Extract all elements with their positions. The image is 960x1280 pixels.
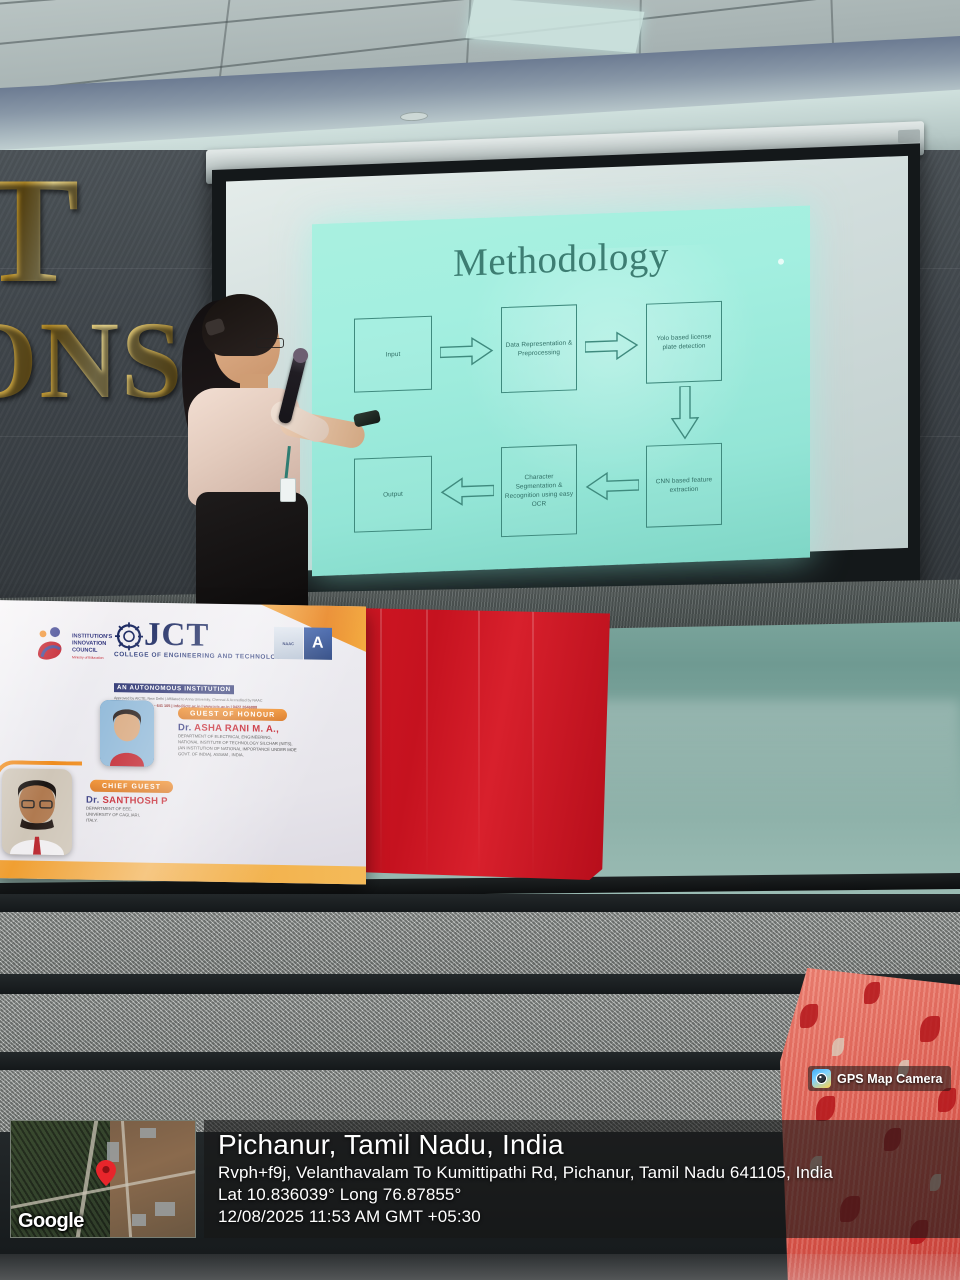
- presenter-skirt: [196, 492, 308, 610]
- presenter: [176, 296, 372, 608]
- college-emblem-icon: [114, 621, 144, 652]
- gps-map-camera-watermark: GPS Map Camera: [808, 1066, 951, 1091]
- svg-text:INNOVATION: INNOVATION: [72, 640, 106, 647]
- camera-icon: [812, 1069, 831, 1088]
- flow-arrow-input-to-prep: [440, 335, 494, 367]
- gps-text-panel: Pichanur, Tamil Nadu, India Rvph+f9j, Ve…: [204, 1120, 960, 1238]
- guest-of-honour-pill: GUEST OF HONOUR: [178, 707, 287, 721]
- google-attribution: Google: [18, 1210, 84, 1233]
- event-banner: INSTITUTION'S INNOVATION COUNCIL Ministr…: [0, 600, 366, 884]
- chief-guest-details: Dr. SANTHOSH P DEPARTMENT OF EEE, UNIVER…: [86, 798, 256, 827]
- step-riser-1: [0, 894, 960, 912]
- flow-box-preprocessing: Data Representation & Preprocessing: [501, 304, 577, 393]
- wall-letter-ons: ONS: [0, 305, 184, 415]
- flow-box-character-recognition: Character Segmentation & Recognition usi…: [501, 444, 577, 537]
- roller-end-cap: [898, 129, 920, 143]
- gps-address: Rvph+f9j, Velanthavalam To Kumittipathi …: [218, 1162, 946, 1184]
- map-location-pin-icon: [96, 1160, 116, 1186]
- wall-letter-t: T: [0, 155, 81, 305]
- bottom-fade: [0, 1254, 960, 1280]
- photograph: T ONS Methodology Input Data Representat…: [0, 0, 960, 1280]
- flow-arrow-detect-to-cnn: [670, 386, 700, 441]
- chief-guest-photo: [2, 768, 72, 855]
- college-logo-block: JCT NAAC A COLLEGE OF ENGINEERING AND TE…: [114, 618, 324, 711]
- college-autonomy-status: AN AUTONOMOUS INSTITUTION: [114, 683, 234, 694]
- svg-text:Ministry of Education: Ministry of Education: [72, 655, 104, 660]
- gps-watermark-label: GPS Map Camera: [837, 1072, 943, 1086]
- flow-arrow-ocr-to-output: [440, 475, 494, 507]
- iic-logo: INSTITUTION'S INNOVATION COUNCIL Ministr…: [30, 625, 112, 666]
- methodology-flowchart: Input Data Representation & Preprocessin…: [346, 290, 790, 535]
- gps-info-bar: Google Pichanur, Tamil Nadu, India Rvph+…: [0, 1118, 960, 1254]
- gps-place-name: Pichanur, Tamil Nadu, India: [218, 1128, 946, 1161]
- gps-timestamp: 12/08/2025 11:53 AM GMT +05:30: [218, 1206, 946, 1228]
- chief-guest-prefix: Dr.: [86, 795, 100, 806]
- svg-text:INSTITUTION'S: INSTITUTION'S: [72, 633, 112, 640]
- svg-text:COUNCIL: COUNCIL: [72, 647, 98, 653]
- flow-arrow-prep-to-detect: [585, 330, 639, 362]
- naac-label-top: NAAC: [274, 640, 303, 645]
- chief-guest-pill: CHIEF GUEST: [90, 780, 173, 793]
- flow-arrow-cnn-to-ocr: [585, 470, 639, 502]
- flow-box-yolo-detection: Yolo based license plate detection: [646, 301, 722, 384]
- guest-of-honour-photo: [100, 700, 154, 767]
- wall-signage: T ONS: [0, 155, 188, 415]
- step-tread-1: [0, 912, 960, 974]
- eyeglasses: [256, 338, 284, 348]
- guest-of-honour-prefix: Dr.: [178, 722, 192, 733]
- map-thumbnail[interactable]: Google: [10, 1120, 196, 1238]
- ceiling-light-panel: [466, 0, 645, 53]
- naac-grade-badge: NAAC A: [274, 627, 332, 660]
- table-red-cloth: [352, 608, 610, 880]
- gps-coordinates: Lat 10.836039° Long 76.87855°: [218, 1184, 946, 1206]
- guest-of-honour-details: Dr. ASHA RANI M. A., DEPARTMENT OF ELECT…: [178, 725, 358, 760]
- college-abbreviation: JCT: [144, 619, 209, 652]
- naac-grade-letter: A: [304, 627, 333, 659]
- projected-slide: Methodology Input Data Representation & …: [312, 206, 810, 577]
- flow-box-cnn-feature-extraction: CNN based feature extraction: [646, 443, 722, 528]
- id-badge: [280, 478, 296, 502]
